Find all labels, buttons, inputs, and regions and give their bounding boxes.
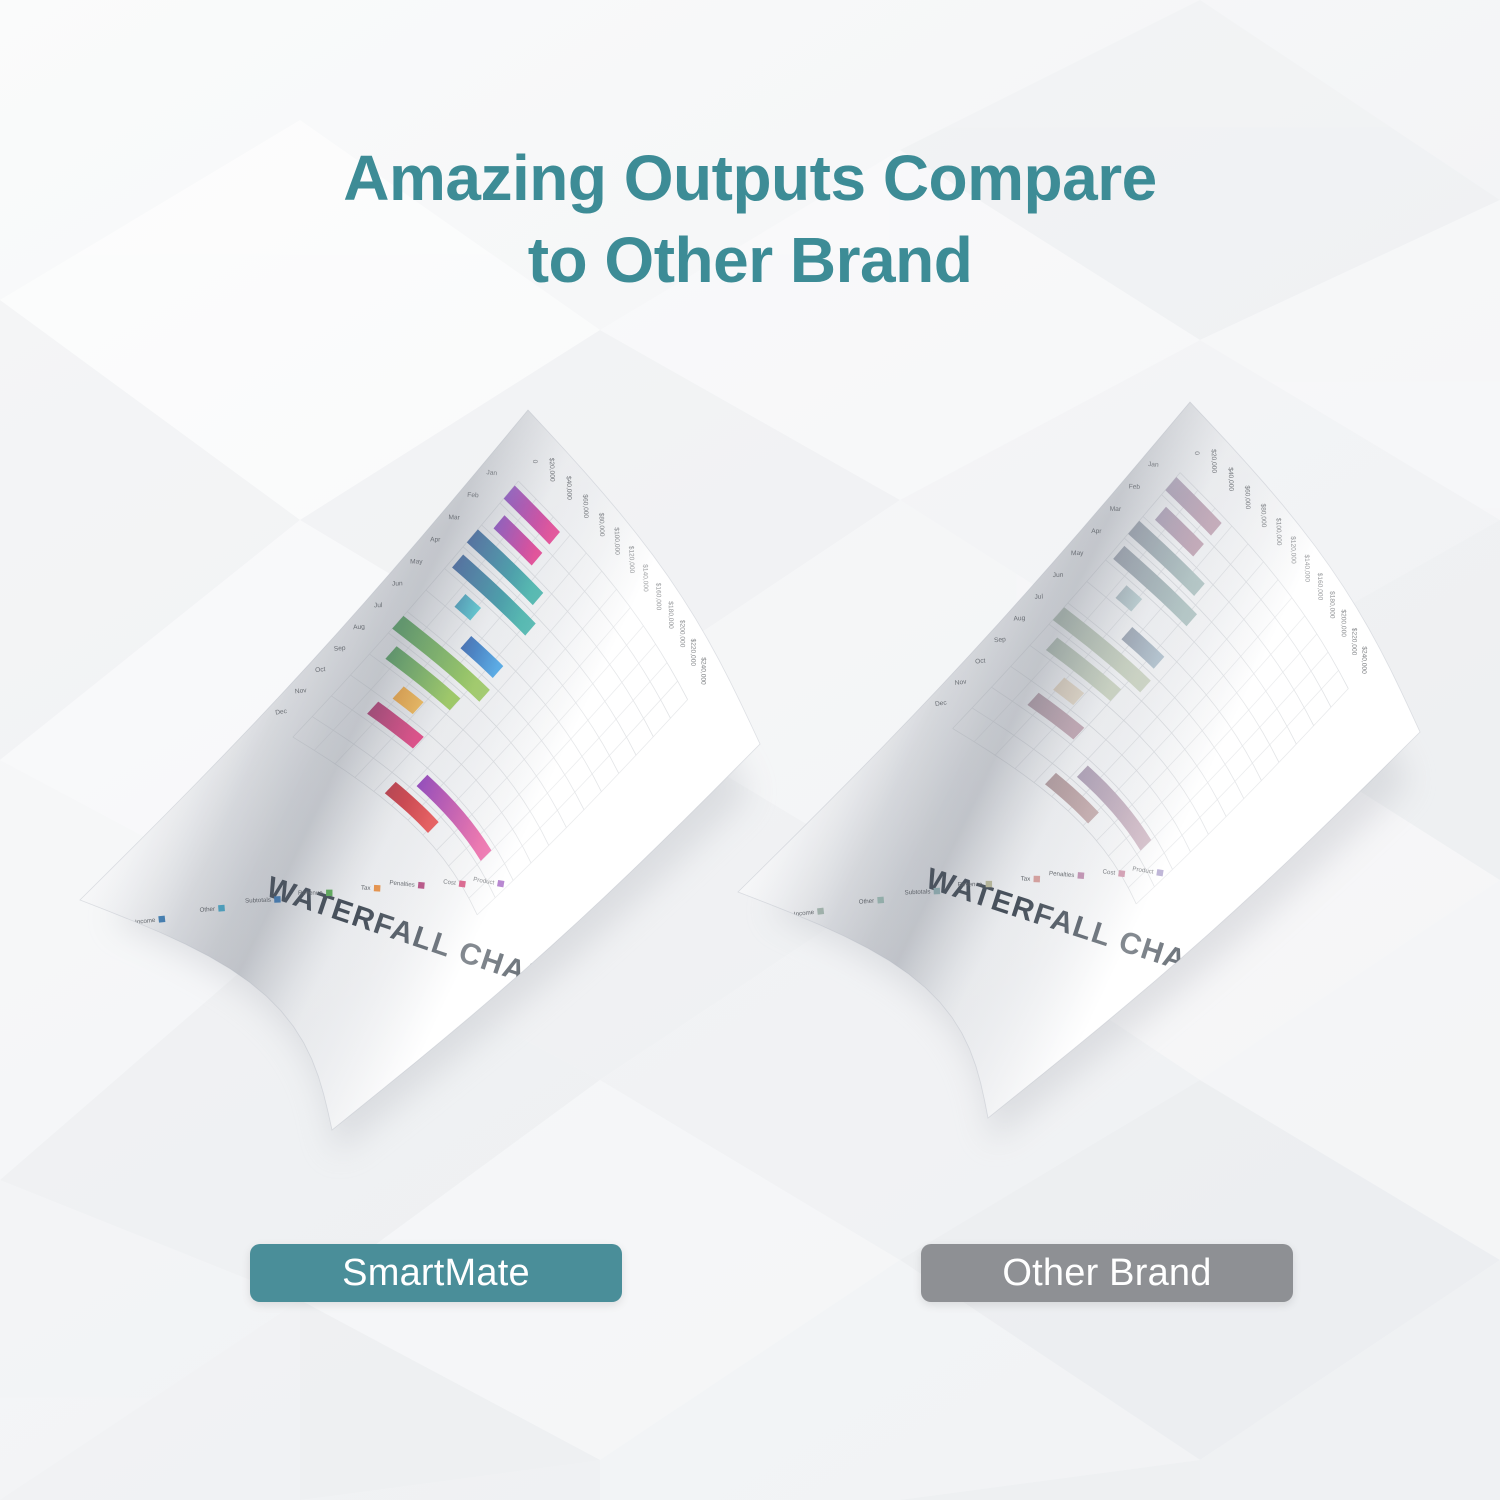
other-brand-slide-sheet[interactable]: 0$20,000$40,000$60,000$80,000$100,000$12… <box>660 300 1500 1360</box>
other-brand-badge[interactable]: Other Brand <box>921 1244 1293 1302</box>
page-title: Amazing Outputs Compare to Other Brand <box>0 138 1500 302</box>
smartmate-badge-label: SmartMate <box>342 1252 530 1295</box>
other-brand-badge-label: Other Brand <box>1002 1252 1211 1295</box>
page-title-line-2: to Other Brand <box>0 220 1500 302</box>
smartmate-badge[interactable]: SmartMate <box>250 1244 622 1302</box>
page-title-line-1: Amazing Outputs Compare <box>0 138 1500 220</box>
